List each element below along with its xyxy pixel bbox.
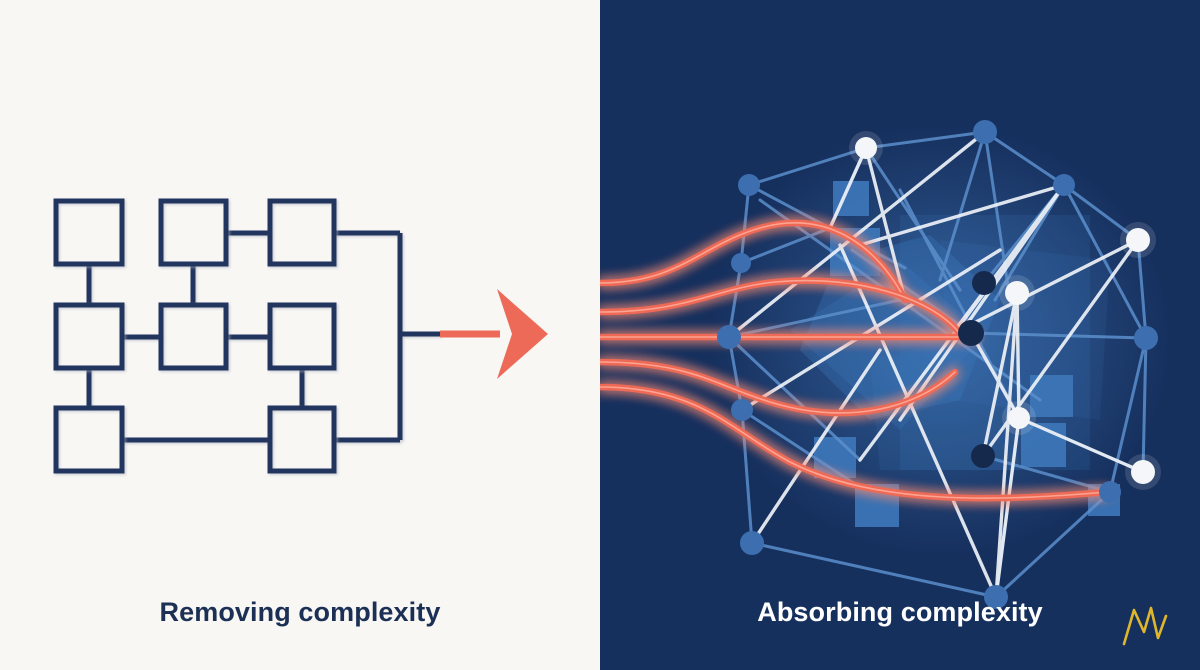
process-box-r1c1 xyxy=(56,201,122,264)
box-group xyxy=(56,201,334,471)
figure-root: Removing complexity Absorbing complexity xyxy=(0,0,1200,670)
absorbing-complexity-graphic xyxy=(600,0,1200,670)
node-node-06 xyxy=(731,253,751,273)
node-node-10 xyxy=(958,320,984,346)
connector-group xyxy=(89,233,440,440)
removing-complexity-panel: Removing complexity xyxy=(0,0,600,670)
node-node-14 xyxy=(971,444,995,468)
node-node-01 xyxy=(738,174,760,196)
node-node-12 xyxy=(731,399,753,421)
node-node-05 xyxy=(1126,228,1150,252)
node-node-08 xyxy=(1005,281,1029,305)
right-panel-caption: Absorbing complexity xyxy=(600,597,1200,628)
node-node-18 xyxy=(1099,481,1121,503)
node-node-15 xyxy=(1131,460,1155,484)
node-node-07 xyxy=(972,271,996,295)
node-node-16 xyxy=(740,531,764,555)
process-box-r3c3 xyxy=(270,408,334,471)
flow-arrow-group xyxy=(440,289,548,379)
node-node-04 xyxy=(1053,174,1075,196)
process-box-r1c2 xyxy=(161,201,226,264)
arrow-head-icon xyxy=(497,289,548,379)
process-box-r2c2 xyxy=(161,305,226,368)
left-panel-caption: Removing complexity xyxy=(0,597,600,628)
process-box-r2c3 xyxy=(270,305,334,368)
node-node-11 xyxy=(1134,326,1158,350)
process-box-r2c1 xyxy=(56,305,122,368)
node-node-02 xyxy=(855,137,877,159)
node-node-03 xyxy=(973,120,997,144)
removing-complexity-graphic xyxy=(0,0,600,670)
artist-signature-icon xyxy=(1114,594,1178,652)
process-box-r3c1 xyxy=(56,408,122,471)
node-node-13 xyxy=(1008,407,1030,429)
node-node-09 xyxy=(717,325,741,349)
process-box-r1c3 xyxy=(270,201,334,264)
absorbing-complexity-panel: Absorbing complexity xyxy=(600,0,1200,670)
